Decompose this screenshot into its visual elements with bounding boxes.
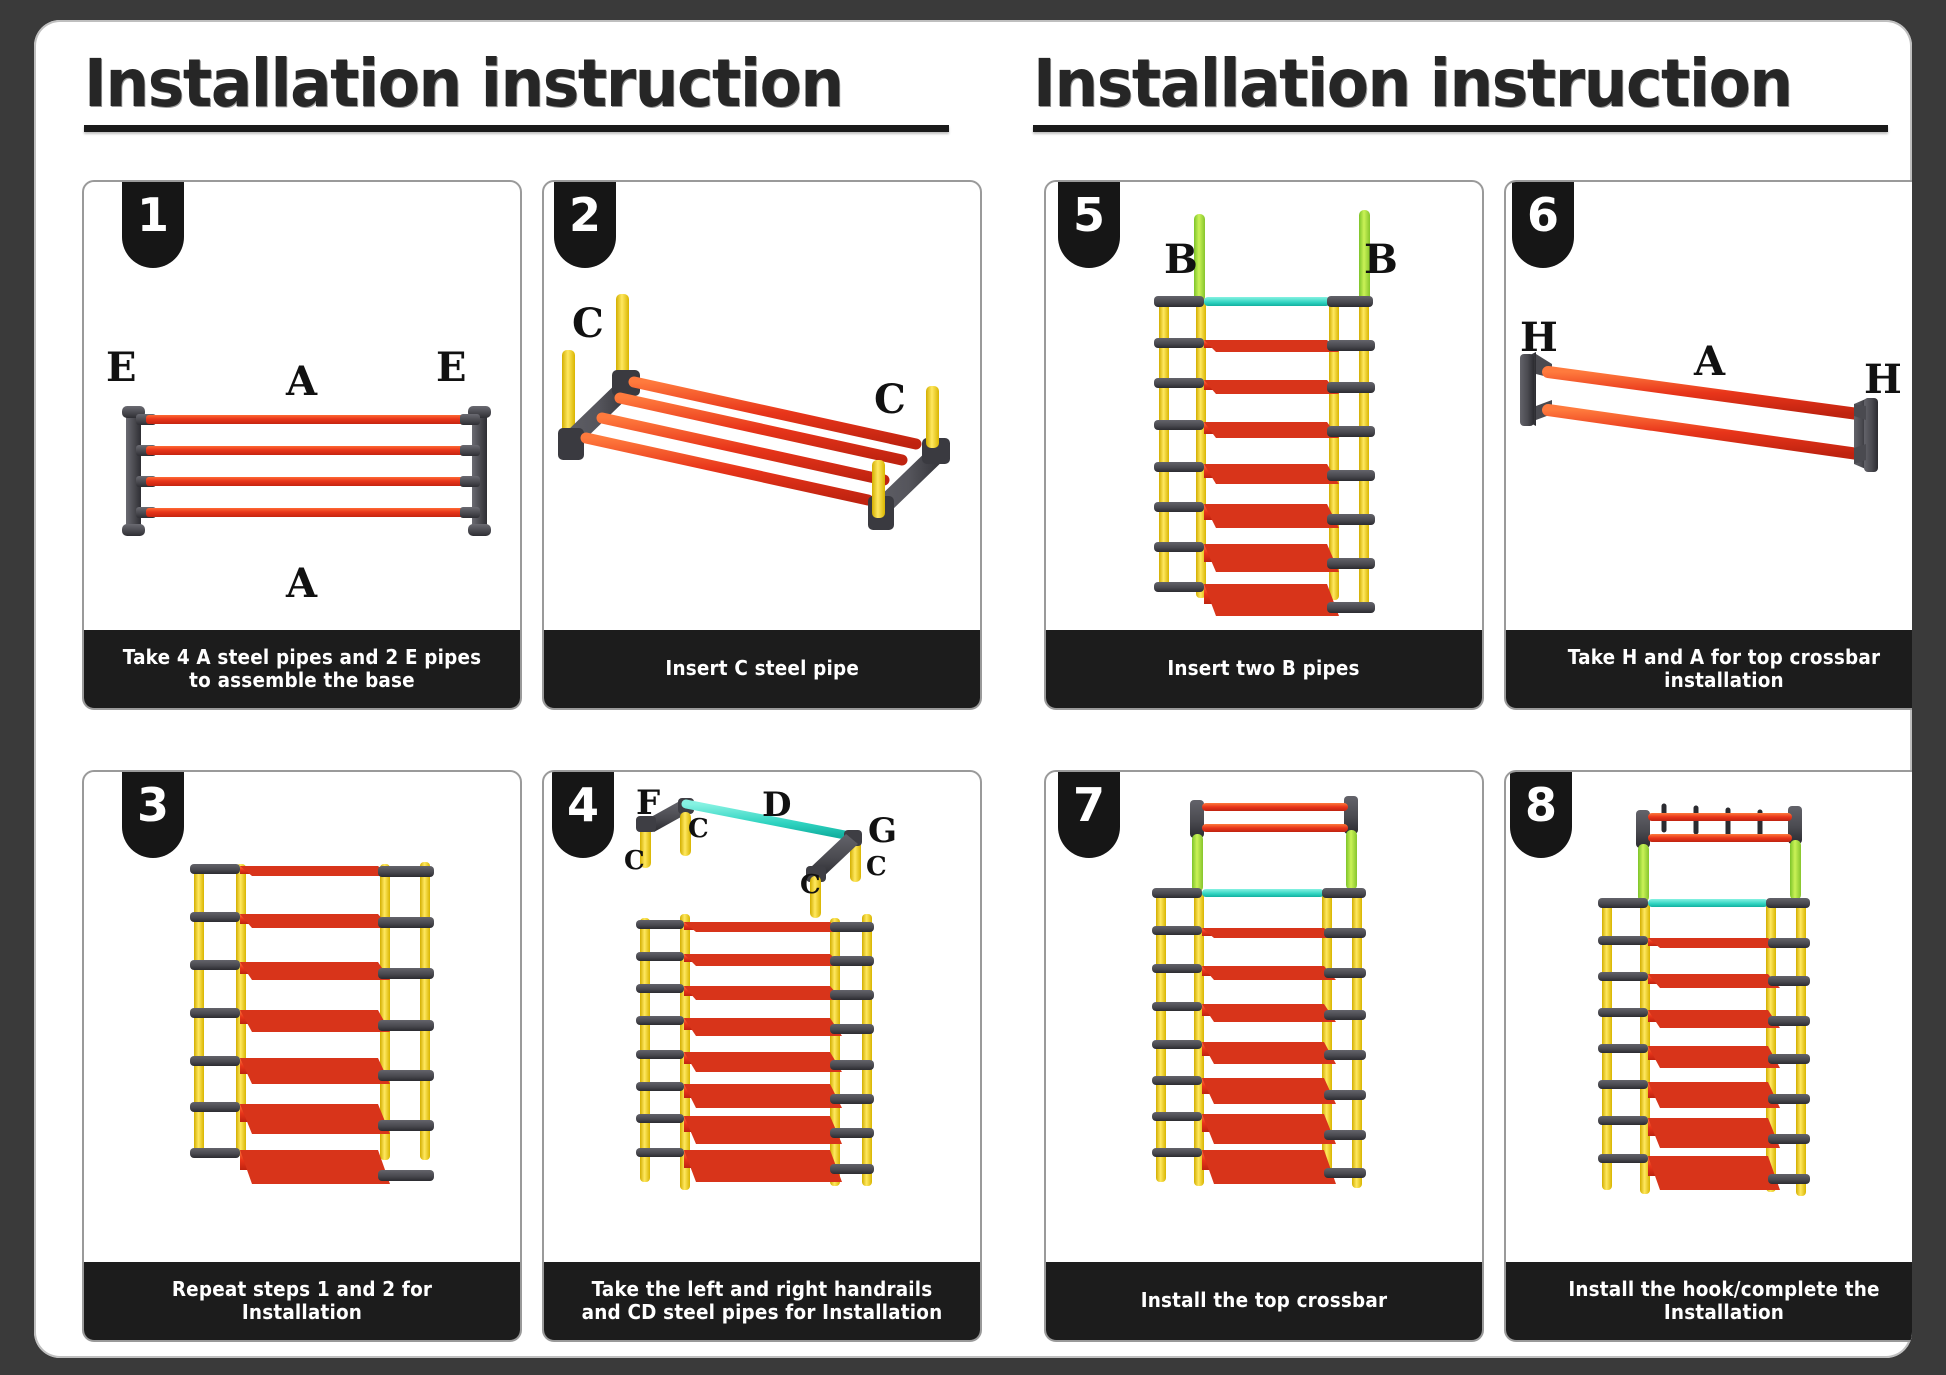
part-label-g: G <box>868 814 897 848</box>
part-label-a-bottom: A <box>286 564 317 604</box>
instruction-card: Installation instruction Installation in… <box>34 20 1912 1358</box>
step-number-badge-7: 7 <box>1058 770 1120 858</box>
part-label-c-right: C <box>874 380 906 420</box>
end-cap-left-bottom <box>122 524 145 536</box>
heading-right: Installation instruction <box>973 50 1912 132</box>
step-panel-6[interactable]: 6 H A H <box>1504 180 1912 710</box>
heading-left: Installation instruction <box>34 50 973 132</box>
heading-underline-right <box>1033 125 1888 132</box>
step-caption-3: Repeat steps 1 and 2 for Installation <box>84 1262 520 1340</box>
step-number-badge-2: 2 <box>554 180 616 268</box>
step-caption-1: Take 4 A steel pipes and 2 E pipes to as… <box>84 630 520 708</box>
page-title-right: Installation instruction <box>1033 50 1850 117</box>
step-illustration-4: F D G C C C C <box>544 772 980 1262</box>
part-label-h-right: H <box>1864 360 1902 400</box>
step-caption-2: Insert C steel pipe <box>544 630 980 708</box>
handrail-rack-svg <box>544 772 980 1262</box>
step-panel-7[interactable]: 7 <box>1044 770 1484 1342</box>
part-label-b-right: B <box>1364 240 1398 280</box>
pipe-a-4 <box>146 508 468 517</box>
step-caption-6: Take H and A for top crossbar installati… <box>1506 630 1912 708</box>
part-label-f: F <box>636 786 660 820</box>
part-label-c-1: C <box>624 848 645 874</box>
completed-rack-svg <box>1506 772 1912 1262</box>
part-label-e-left: E <box>106 348 137 388</box>
step-number-badge-8: 8 <box>1510 770 1572 858</box>
step-caption-text-8: Install the hook/complete the Installati… <box>1533 1278 1912 1324</box>
step-number-badge-5: 5 <box>1058 180 1120 268</box>
step-panel-4[interactable]: 4 F D G C C C C <box>542 770 982 1342</box>
part-label-b-left: B <box>1164 240 1198 280</box>
step-illustration-8 <box>1506 772 1912 1262</box>
panel-grid: 1 E A A E <box>56 180 1892 1345</box>
step-caption-7: Install the top crossbar <box>1046 1262 1482 1340</box>
end-cap-right-bottom <box>468 524 491 536</box>
part-label-a-top: A <box>286 362 317 402</box>
heading-underline-left <box>84 125 949 132</box>
pipe-a-3 <box>146 477 468 486</box>
part-label-e-right: E <box>436 348 467 388</box>
step-number-badge-6: 6 <box>1512 180 1574 268</box>
step-number-badge-4: 4 <box>552 770 614 858</box>
page-title-left: Installation instruction <box>84 50 911 117</box>
part-label-d: D <box>762 788 791 822</box>
socket-r-4 <box>460 507 480 518</box>
step-panel-8[interactable]: 8 <box>1504 770 1912 1342</box>
socket-r-3 <box>460 476 480 487</box>
part-label-a-mid: A <box>1694 342 1725 382</box>
step-number-badge-3: 3 <box>122 770 184 858</box>
step-caption-text-2: Insert C steel pipe <box>665 657 859 680</box>
step-caption-text-1: Take 4 A steel pipes and 2 E pipes to as… <box>111 646 494 692</box>
step-caption-text-3: Repeat steps 1 and 2 for Installation <box>111 1278 494 1324</box>
part-label-c-3: C <box>800 872 821 898</box>
pipe-a-1 <box>146 415 468 424</box>
part-label-c-4: C <box>866 854 887 880</box>
step-caption-text-4: Take the left and right handrails and CD… <box>571 1278 954 1324</box>
step-panel-5[interactable]: 5 B B <box>1044 180 1484 710</box>
step-caption-8: Install the hook/complete the Installati… <box>1506 1262 1912 1340</box>
step-panel-2[interactable]: 2 C C <box>542 180 982 710</box>
step-caption-text-5: Insert two B pipes <box>1168 657 1360 680</box>
part-label-c-left: C <box>572 304 604 344</box>
step-caption-4: Take the left and right handrails and CD… <box>544 1262 980 1340</box>
step-caption-5: Insert two B pipes <box>1046 630 1482 708</box>
step-panel-1[interactable]: 1 E A A E <box>82 180 522 710</box>
socket-r-2 <box>460 445 480 456</box>
part-label-h-left: H <box>1520 318 1558 358</box>
step-caption-text-7: Install the top crossbar <box>1141 1289 1388 1312</box>
pipe-a-2 <box>146 446 468 455</box>
part-label-c-2: C <box>688 816 709 842</box>
socket-r-1 <box>460 414 480 425</box>
step-panel-3[interactable]: 3 <box>82 770 522 1342</box>
step-number-badge-1: 1 <box>122 180 184 268</box>
step-caption-text-6: Take H and A for top crossbar installati… <box>1533 646 1912 692</box>
headings-row: Installation instruction Installation in… <box>34 50 1912 132</box>
